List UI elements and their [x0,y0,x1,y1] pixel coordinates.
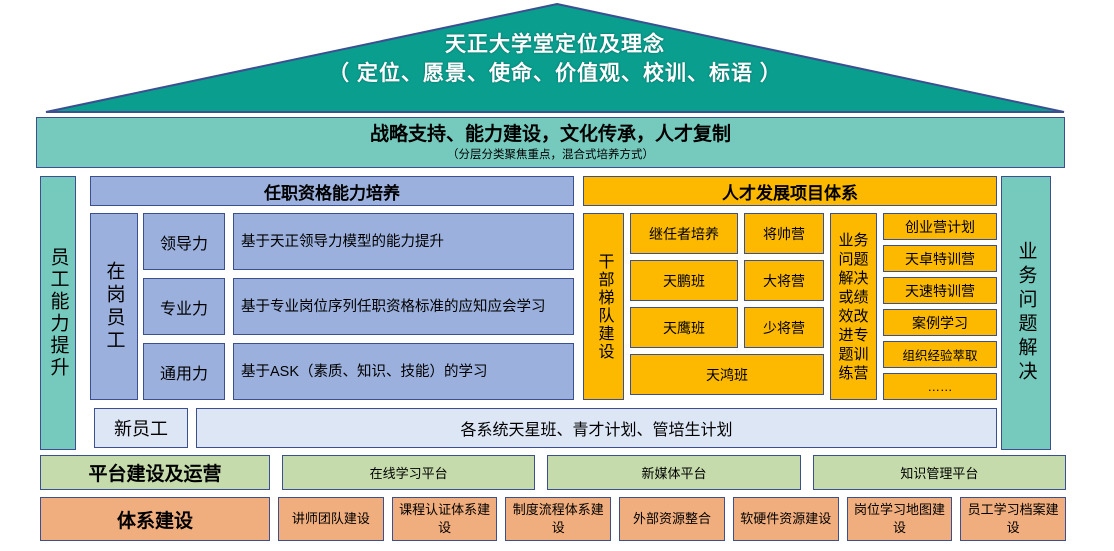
sidebar-business-problem-solving[interactable]: 业务问题解决 [1001,176,1051,450]
program-startup-camp-plan[interactable]: 创业营计划 [883,213,997,240]
sidebar-employee-capability[interactable]: 员工能力提升 [40,176,76,450]
cadre-pipeline-label: 干部梯队建设 [596,253,612,361]
roof-shape: 天正大学堂定位及理念 （ 定位、愿景、使命、价值观、校训、标语 ） [44,2,1066,114]
program-general-camp[interactable]: 将帅营 [744,213,824,254]
platform-row: 平台建设及运营 在线学习平台 新媒体平台 知识管理平台 [40,455,1066,490]
system-item-hardware-software[interactable]: 软硬件资源建设 [733,497,839,541]
platform-item-knowledge-management[interactable]: 知识管理平台 [813,455,1066,490]
competency-cap-professional[interactable]: 专业力 [143,278,225,335]
on-job-employee-label: 在岗员工 [105,261,124,353]
program-tianpeng-class[interactable]: 天鹏班 [630,260,738,301]
on-job-employee-group[interactable]: 在岗员工 [90,213,138,400]
talent-program-grid: 继任者培养 将帅营 天鹏班 大将营 天鹰班 少将营 天鸿班 [630,213,824,400]
platform-item-new-media[interactable]: 新媒体平台 [547,455,800,490]
program-case-study[interactable]: 案例学习 [883,309,997,336]
cadre-pipeline-group[interactable]: 干部梯队建设 [583,213,624,400]
left-sidebar-label: 员工能力提升 [49,247,68,379]
talent-body: 干部梯队建设 继任者培养 将帅营 天鹏班 大将营 天鹰班 少将营 天鸿班 业务问 [583,213,997,400]
program-major-general-camp[interactable]: 大将营 [744,260,824,301]
competency-desc-professional: 基于专业岗位序列任职资格标准的应知应会学习 [233,278,574,335]
talent-grid-row: 天鹰班 少将营 [630,307,824,348]
program-tiansu-training-camp[interactable]: 天速特训营 [883,277,997,304]
system-cap[interactable]: 体系建设 [40,497,270,541]
right-sidebar-label: 业务问题解决 [1017,241,1036,385]
banner-sub-text: （分层分类聚焦重点，混合式培养方式） [447,147,654,163]
system-item-learning-records[interactable]: 员工学习档案建设 [960,497,1066,541]
program-successor-development[interactable]: 继任者培养 [630,213,738,254]
competency-title: 任职资格能力培养 [90,176,574,206]
competency-row: 领导力 基于天正领导力模型的能力提升 [143,213,574,270]
competency-desc-leadership: 基于天正领导力模型的能力提升 [233,213,574,270]
talent-grid-row: 天鹏班 大将营 [630,260,824,301]
system-item-learning-map[interactable]: 岗位学习地图建设 [847,497,953,541]
program-more-ellipsis[interactable]: …… [883,373,997,400]
strategy-banner: 战略支持、能力建设，文化传承，人才复制 （分层分类聚焦重点，混合式培养方式） [36,117,1065,168]
business-problem-camp[interactable]: 业务问题解决或绩效改进专题训练营 [830,213,877,400]
program-tianhong-class[interactable]: 天鸿班 [630,354,824,395]
talent-program-list: 创业营计划 天卓特训营 天速特训营 案例学习 组织经验萃取 …… [883,213,997,400]
pyramid-diagram: 天正大学堂定位及理念 （ 定位、愿景、使命、价值观、校训、标语 ） 战略支持、能… [0,0,1114,551]
new-employee-programs: 各系统天星班、青才计划、管培生计划 [196,408,997,448]
competency-cap-leadership[interactable]: 领导力 [143,213,225,270]
business-problem-camp-label: 业务问题解决或绩效改进专题训练营 [838,231,870,383]
system-item-trainer-team[interactable]: 讲师团队建设 [278,497,384,541]
system-item-process-system[interactable]: 制度流程体系建设 [505,497,611,541]
system-item-external-resources[interactable]: 外部资源整合 [619,497,725,541]
competency-cap-general[interactable]: 通用力 [143,343,225,400]
competency-desc-general: 基于ASK（素质、知识、技能）的学习 [233,343,574,400]
platform-cap[interactable]: 平台建设及运营 [40,455,270,490]
system-item-course-certification[interactable]: 课程认证体系建设 [392,497,498,541]
talent-title: 人才发展项目体系 [583,176,997,206]
talent-development-section: 人才发展项目体系 干部梯队建设 继任者培养 将帅营 天鹏班 大将营 天鹰班 少将… [583,176,997,400]
program-org-experience-extraction[interactable]: 组织经验萃取 [883,341,997,368]
new-employee-cap[interactable]: 新员工 [94,408,188,448]
competency-rows: 领导力 基于天正领导力模型的能力提升 专业力 基于专业岗位序列任职资格标准的应知… [143,213,574,400]
platform-item-online-learning[interactable]: 在线学习平台 [282,455,535,490]
talent-grid-row: 继任者培养 将帅营 [630,213,824,254]
program-tianying-class[interactable]: 天鹰班 [630,307,738,348]
program-minor-general-camp[interactable]: 少将营 [744,307,824,348]
competency-section: 任职资格能力培养 在岗员工 领导力 基于天正领导力模型的能力提升 专业力 基于专… [90,176,574,400]
program-tianzhuo-training-camp[interactable]: 天卓特训营 [883,245,997,272]
banner-main-text: 战略支持、能力建设，文化传承，人才复制 [370,123,731,147]
system-row: 体系建设 讲师团队建设 课程认证体系建设 制度流程体系建设 外部资源整合 软硬件… [40,497,1066,541]
competency-row: 通用力 基于ASK（素质、知识、技能）的学习 [143,343,574,400]
competency-row: 专业力 基于专业岗位序列任职资格标准的应知应会学习 [143,278,574,335]
